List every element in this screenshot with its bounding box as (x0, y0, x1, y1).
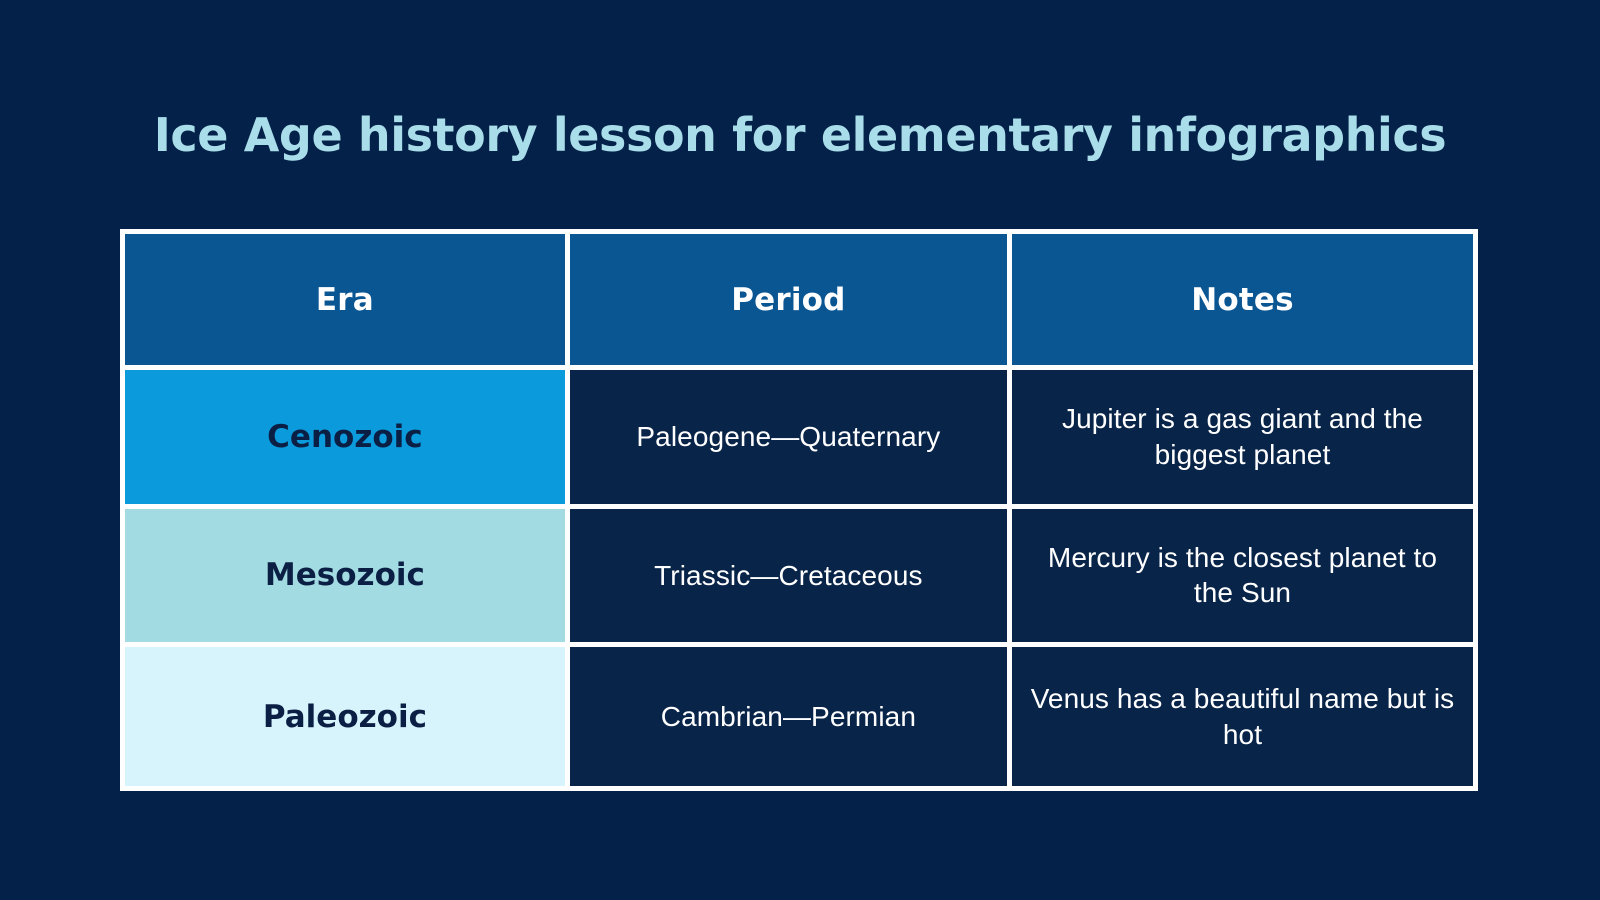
table-row: Mesozoic Triassic—Cretaceous Mercury is … (125, 509, 1473, 648)
cell-period-cenozoic: Paleogene—Quaternary (570, 370, 1012, 509)
cell-notes-paleozoic: Venus has a beautiful name but is hot (1012, 647, 1473, 786)
page-title: Ice Age history lesson for elementary in… (0, 108, 1600, 162)
table-body: Cenozoic Paleogene—Quaternary Jupiter is… (125, 370, 1473, 786)
column-header-era: Era (125, 234, 570, 370)
column-header-period: Period (570, 234, 1012, 370)
era-table-grid: Era Period Notes Cenozoic Paleogene—Quat… (125, 234, 1473, 786)
slide-canvas: Ice Age history lesson for elementary in… (0, 0, 1600, 900)
table-header-row: Era Period Notes (125, 234, 1473, 370)
cell-notes-mesozoic: Mercury is the closest planet to the Sun (1012, 509, 1473, 648)
column-header-notes: Notes (1012, 234, 1473, 370)
cell-period-paleozoic: Cambrian—Permian (570, 647, 1012, 786)
cell-era-cenozoic: Cenozoic (125, 370, 570, 509)
table-header: Era Period Notes (125, 234, 1473, 370)
cell-era-mesozoic: Mesozoic (125, 509, 570, 648)
era-table: Era Period Notes Cenozoic Paleogene—Quat… (120, 229, 1478, 791)
table-row: Cenozoic Paleogene—Quaternary Jupiter is… (125, 370, 1473, 509)
table-row: Paleozoic Cambrian—Permian Venus has a b… (125, 647, 1473, 786)
cell-period-mesozoic: Triassic—Cretaceous (570, 509, 1012, 648)
cell-era-paleozoic: Paleozoic (125, 647, 570, 786)
cell-notes-cenozoic: Jupiter is a gas giant and the biggest p… (1012, 370, 1473, 509)
